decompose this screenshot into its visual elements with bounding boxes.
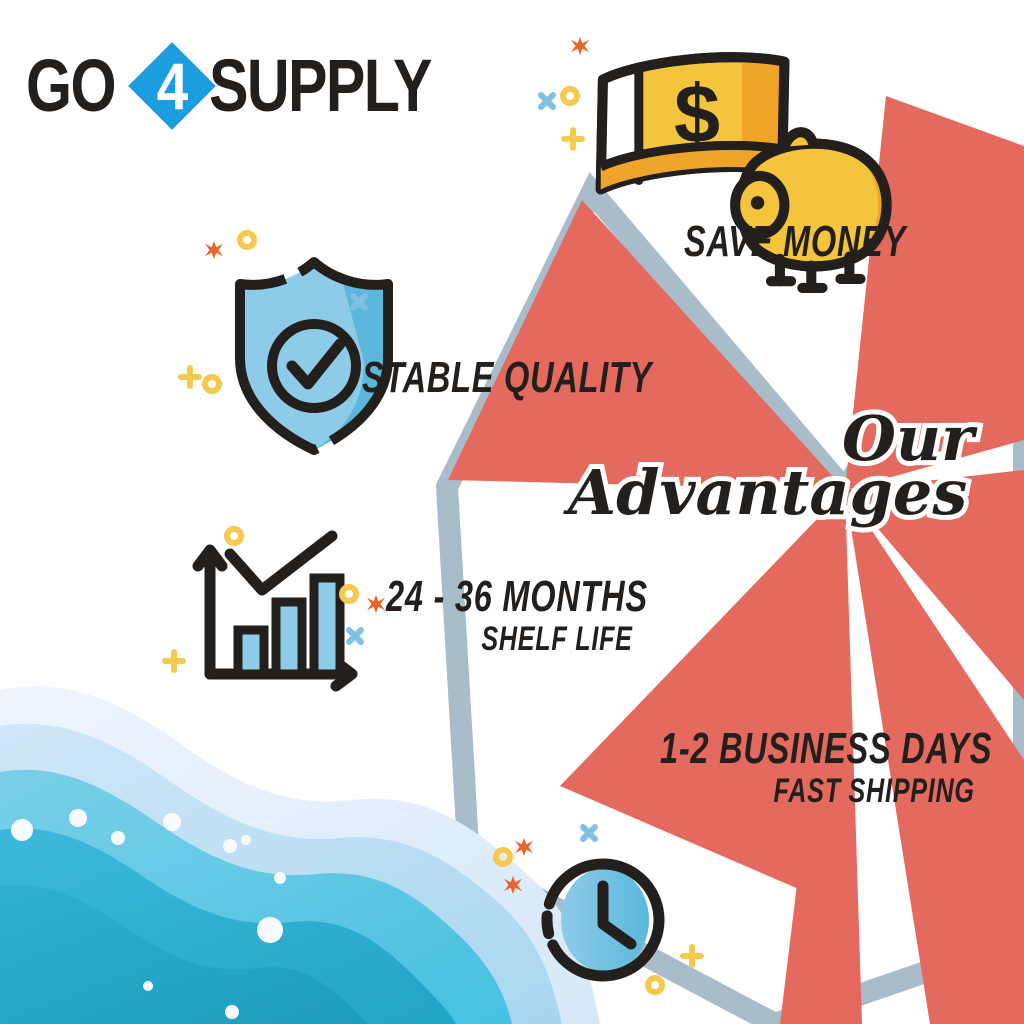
feature-line2: SHELF LIFE bbox=[426, 620, 688, 658]
clock-icon bbox=[547, 864, 659, 976]
feature-label-fast-shipping: 1-2 BUSINESS DAYS FAST SHIPPING bbox=[660, 726, 1024, 810]
asterisk-spark bbox=[205, 241, 223, 259]
feature-label-stable-quality: STABLE QUALITY bbox=[362, 355, 754, 401]
background-graphics: $ bbox=[0, 0, 1024, 1024]
donut-spark bbox=[563, 89, 577, 103]
feature-line1: SAVE MONEY bbox=[684, 219, 906, 265]
bar-chart-growth-icon bbox=[198, 536, 352, 686]
feature-line2: FAST SHIPPING bbox=[708, 772, 1024, 810]
logo-diamond: 4 bbox=[129, 43, 215, 129]
feature-line1: STABLE QUALITY bbox=[362, 355, 652, 401]
logo-diamond-number: 4 bbox=[135, 43, 209, 129]
cross-spark bbox=[353, 296, 365, 308]
plus-spark bbox=[181, 368, 199, 386]
feature-line1: 1-2 BUSINESS DAYS bbox=[660, 726, 992, 772]
logo-text-supply: SUPPLY bbox=[209, 49, 431, 123]
asterisk-spark bbox=[515, 838, 533, 856]
brand-logo[interactable]: GO 4 SUPPLY bbox=[26, 46, 486, 126]
feature-line1: 24 - 36 MONTHS bbox=[386, 574, 648, 620]
cross-spark bbox=[349, 630, 361, 642]
plus-spark bbox=[564, 130, 582, 148]
poster-canvas: $ bbox=[0, 0, 1024, 1024]
cross-spark bbox=[541, 95, 553, 107]
cross-spark bbox=[583, 827, 595, 839]
asterisk-spark bbox=[367, 595, 385, 613]
feature-label-save-money: SAVE MONEY bbox=[684, 219, 984, 265]
svg-text:$: $ bbox=[674, 67, 720, 160]
plus-spark bbox=[683, 947, 701, 965]
plus-spark bbox=[165, 652, 183, 670]
wedge-upper-right bbox=[845, 96, 1024, 490]
asterisk-spark bbox=[571, 37, 589, 55]
logo-text-go: GO bbox=[26, 49, 115, 123]
feature-label-shelf-life: 24 - 36 MONTHS SHELF LIFE bbox=[386, 574, 740, 658]
